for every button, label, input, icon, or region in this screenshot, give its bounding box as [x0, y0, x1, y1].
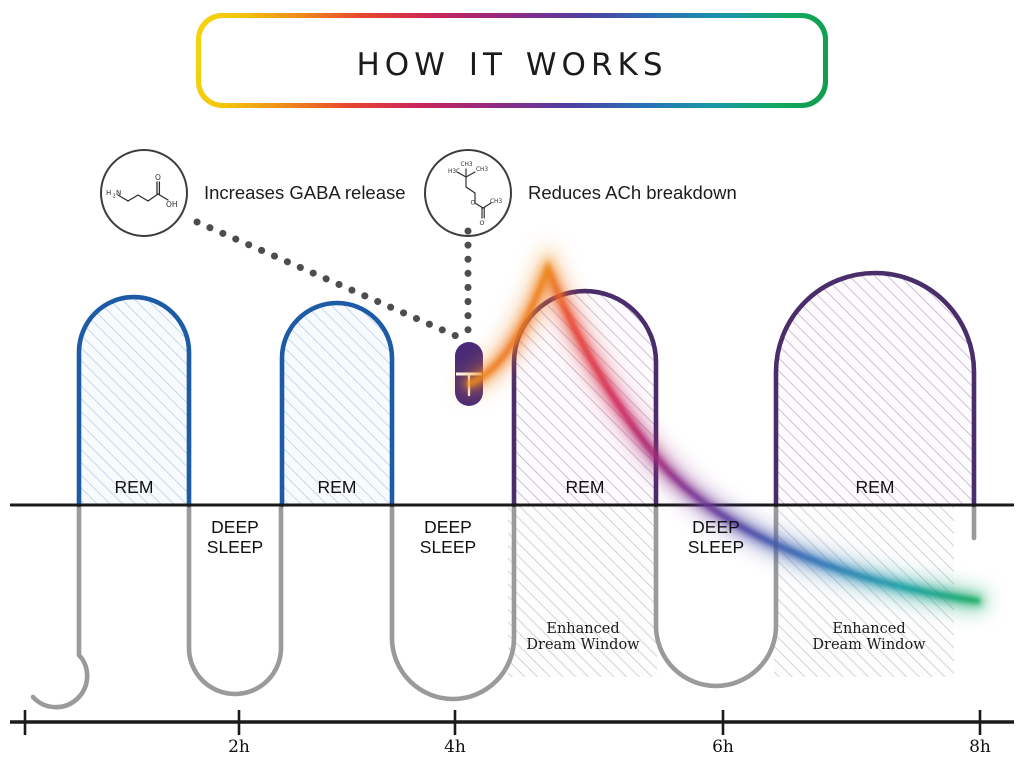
axis-tick-label-4h: 4h: [425, 738, 485, 757]
deep-sleep-label: DEEP SLEEP: [185, 518, 285, 557]
enhanced-dream-window-label: Enhanced Dream Window: [808, 621, 930, 653]
axis-tick-label-8h: 8h: [950, 738, 1010, 757]
rem-hump-fill: [514, 291, 656, 505]
rem-hump-fill: [79, 297, 189, 505]
deep-sleep-label-line2: SLEEP: [398, 538, 498, 558]
deep-sleep-label-line2: SLEEP: [666, 538, 766, 558]
enhanced-dream-window-label-line1: Enhanced: [808, 621, 930, 637]
rem-label: REM: [84, 478, 184, 498]
rem-hump-fill: [282, 303, 392, 505]
x-axis: [10, 710, 1014, 735]
rem-hump-fill: [776, 273, 974, 505]
axis-tick-label-2h: 2h: [209, 738, 269, 757]
infographic-canvas: How it works H 2 N O OH: [0, 0, 1024, 766]
rem-label: REM: [825, 478, 925, 498]
deep-sleep-label-line2: SLEEP: [185, 538, 285, 558]
enhanced-dream-window-label-line1: Enhanced: [522, 621, 644, 637]
axis-tick-label-6h: 6h: [693, 738, 753, 757]
rem-label: REM: [535, 478, 635, 498]
enhanced-dream-window-label-line2: Dream Window: [808, 637, 930, 653]
deep-sleep-label: DEEP SLEEP: [398, 518, 498, 557]
deep-sleep-label-line1: DEEP: [185, 518, 285, 538]
deep-sleep-label-line1: DEEP: [398, 518, 498, 538]
enhanced-dream-window-label: Enhanced Dream Window: [522, 621, 644, 653]
enhanced-dream-window-label-line2: Dream Window: [522, 637, 644, 653]
deep-sleep-label: DEEP SLEEP: [666, 518, 766, 557]
deep-sleep-label-line1: DEEP: [666, 518, 766, 538]
deep-sleep-trough: [33, 505, 87, 707]
rem-label: REM: [287, 478, 387, 498]
